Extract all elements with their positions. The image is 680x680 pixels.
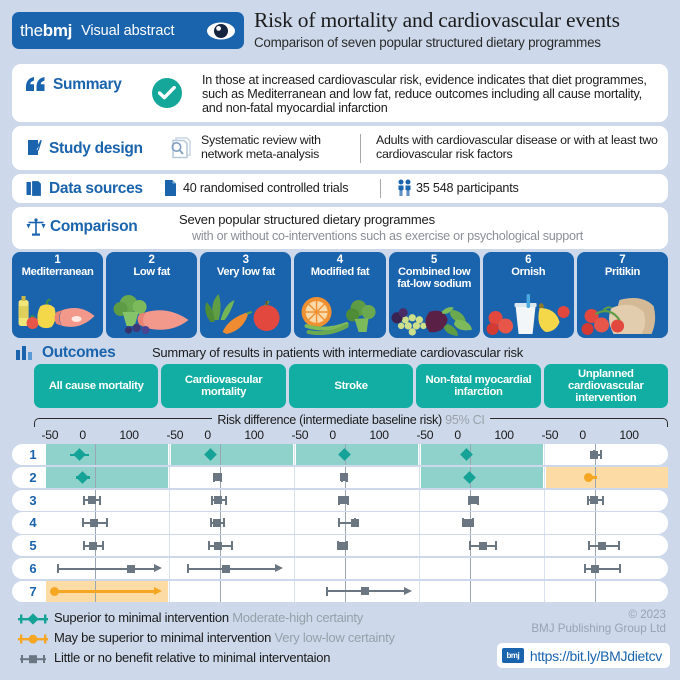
- plot-cell[interactable]: [171, 467, 293, 488]
- eye-icon: [206, 20, 236, 42]
- ci-cap-upper: [472, 518, 474, 527]
- diet-card-pritikin[interactable]: 7 Pritikin: [577, 252, 668, 338]
- plot-cell[interactable]: [421, 512, 543, 533]
- plot-cell[interactable]: [296, 444, 418, 465]
- tick-group-panel-5: -500100: [534, 428, 656, 443]
- panel-separator: [419, 558, 420, 579]
- panel-separator: [294, 535, 295, 556]
- legend-text-superior: Superior to minimal intervention Moderat…: [54, 610, 363, 625]
- legend-row-superior: Superior to minimal intervention Moderat…: [16, 608, 436, 628]
- tick-label: 0: [579, 428, 585, 442]
- point-estimate-square: [351, 519, 359, 527]
- ci-cap-upper: [495, 541, 497, 550]
- panel-separator: [169, 444, 170, 465]
- diet-number: 4: [294, 254, 385, 266]
- document-icon: [164, 179, 177, 202]
- legend-text-may-be-superior: May be superior to minimal intervention …: [54, 630, 395, 645]
- copyright-publisher: BMJ Publishing Group Ltd: [531, 622, 666, 636]
- zero-reference-line: [95, 444, 96, 465]
- divider: [380, 179, 381, 198]
- row-cells: [46, 444, 668, 465]
- study-design-panel: Study design Systematic review with netw…: [12, 126, 668, 170]
- legend: Superior to minimal intervention Moderat…: [16, 608, 436, 668]
- outcome-header-cardiovascular-mortality[interactable]: Cardiovascular mortality: [161, 364, 285, 408]
- panel-separator: [169, 467, 170, 488]
- olive-oil-pepper-tomato-salmon-icon: [12, 292, 103, 336]
- bread-tomatoes-icon: [577, 292, 668, 336]
- row-number-2[interactable]: 2: [24, 467, 42, 488]
- legend-label: Superior to minimal intervention: [54, 610, 229, 625]
- point-estimate-square: [598, 542, 606, 550]
- row-number-5[interactable]: 5: [24, 535, 42, 556]
- plot-row: 7: [12, 581, 668, 602]
- ci-cap-lower: [587, 496, 589, 505]
- diet-card-ornish[interactable]: 6 Ornish: [483, 252, 574, 338]
- tick-label: 0: [79, 428, 85, 442]
- bmj-brand-box: thebmj Visual abstract: [12, 12, 244, 49]
- tick-label: 100: [369, 428, 388, 442]
- tick-label: 100: [494, 428, 513, 442]
- ci-cap-upper: [102, 541, 104, 550]
- plot-cell[interactable]: [171, 512, 293, 533]
- outcome-header-unplanned-cardiovascular-intervention[interactable]: Unplanned cardiovascular intervention: [544, 364, 668, 408]
- tick-group-panel-3: -500100: [284, 428, 406, 443]
- point-estimate-square: [214, 496, 222, 504]
- diet-card-very-low-fat[interactable]: 3 Very low fat: [200, 252, 291, 338]
- diet-number: 2: [106, 254, 197, 266]
- tick-group-panel-1: -500100: [34, 428, 156, 443]
- diet-card-low-fat[interactable]: 2 Low fat: [106, 252, 197, 338]
- point-estimate-square: [464, 519, 472, 527]
- forest-plot: 1234567: [12, 444, 668, 604]
- diet-name: Ornish: [485, 266, 572, 278]
- outcome-column-headers: All cause mortality Cardiovascular morta…: [34, 364, 668, 408]
- panel-separator: [294, 581, 295, 602]
- page-title: Risk of mortality and cardiovascular eve…: [254, 8, 620, 33]
- point-estimate-square: [339, 496, 347, 504]
- diet-cards-row: 1 Mediterranean 2 Low fat: [12, 252, 668, 338]
- diet-name: Pritikin: [579, 266, 666, 278]
- panel-separator: [544, 512, 545, 533]
- plot-cell[interactable]: [296, 558, 418, 579]
- point-estimate-square: [90, 519, 98, 527]
- outcomes-label: Outcomes: [42, 344, 115, 362]
- short-url-box[interactable]: bmj https://bit.ly/BMJdietcv: [497, 643, 670, 668]
- plot-cell[interactable]: [171, 535, 293, 556]
- plot-row: 1: [12, 444, 668, 465]
- ci-cap-upper: [618, 541, 620, 550]
- panel-separator: [419, 490, 420, 511]
- highlight-band-teal: [171, 444, 293, 465]
- ci-cap-upper: [99, 496, 101, 505]
- ci-cap-lower: [57, 564, 59, 573]
- point-estimate-square: [590, 451, 598, 459]
- tick-label: -50: [541, 428, 558, 442]
- point-estimate-square: [590, 496, 598, 504]
- panel-separator: [544, 581, 545, 602]
- plot-cell[interactable]: [46, 444, 168, 465]
- plot-cell[interactable]: [421, 535, 543, 556]
- plot-cell[interactable]: [546, 490, 668, 511]
- grey-square-key: [16, 652, 50, 664]
- tick-label: -50: [291, 428, 308, 442]
- bar-chart-icon: [16, 346, 36, 365]
- ci-open-arrow: [154, 587, 162, 595]
- plot-cell[interactable]: [46, 512, 168, 533]
- teal-diamond-key: [16, 612, 50, 624]
- row-number-4[interactable]: 4: [24, 512, 42, 533]
- panel-separator: [169, 558, 170, 579]
- ci-cap-upper: [231, 541, 233, 550]
- study-design-population: Adults with cardiovascular disease or wi…: [376, 133, 666, 161]
- ci-cap-upper: [223, 518, 225, 527]
- plot-cell[interactable]: [421, 581, 543, 602]
- tick-label: 100: [119, 428, 138, 442]
- plot-row: 4: [12, 512, 668, 533]
- page-subtitle: Comparison of seven popular structured d…: [254, 35, 601, 50]
- tick-label: -50: [416, 428, 433, 442]
- plot-cell[interactable]: [421, 490, 543, 511]
- zero-reference-line: [595, 581, 596, 602]
- check-circle-icon: [152, 78, 182, 108]
- visual-abstract-page: thebmj Visual abstract Risk of mortality…: [0, 0, 680, 680]
- point-estimate-square: [88, 496, 96, 504]
- plot-cell[interactable]: [171, 581, 293, 602]
- panel-separator: [419, 467, 420, 488]
- comparison-label: Comparison: [50, 218, 137, 236]
- axis-ci-text: 95% CI: [445, 413, 485, 427]
- study-design-label: Study design: [49, 140, 143, 158]
- ci-cap-lower: [82, 518, 84, 527]
- ci-open-arrow: [275, 564, 283, 572]
- panel-separator: [419, 444, 420, 465]
- study-design-method: Systematic review with network meta-anal…: [201, 133, 341, 161]
- plot-cell[interactable]: [46, 467, 168, 488]
- legend-row-little-or-no-benefit: Little or no benefit relative to minimal…: [16, 648, 436, 668]
- outcome-header-stroke[interactable]: Stroke: [289, 364, 413, 408]
- plot-cell[interactable]: [546, 444, 668, 465]
- panel-separator: [544, 490, 545, 511]
- ci-cap-upper: [600, 450, 602, 459]
- ci-open-arrow: [154, 564, 162, 572]
- panel-separator: [169, 581, 170, 602]
- panel-separator: [544, 558, 545, 579]
- data-sources-panel: Data sources 40 randomised controlled tr…: [12, 174, 668, 203]
- plot-cell[interactable]: [546, 535, 668, 556]
- point-estimate-square: [222, 565, 230, 573]
- ci-cap-lower: [83, 496, 85, 505]
- outcome-header-non-fatal-myocardial-infarction[interactable]: Non-fatal myocardial infarction: [416, 364, 540, 408]
- point-estimate-square: [338, 542, 346, 550]
- bmj-mark-icon: bmj: [502, 648, 524, 663]
- summary-text: In those at increased cardiovascular ris…: [202, 73, 657, 116]
- ci-cap-upper: [225, 496, 227, 505]
- tick-label: 0: [204, 428, 210, 442]
- tick-label: 0: [454, 428, 460, 442]
- ci-cap-upper: [106, 518, 108, 527]
- point-estimate-square: [361, 587, 369, 595]
- plot-cell[interactable]: [296, 467, 418, 488]
- outcomes-subtitle: Summary of results in patients with inte…: [152, 345, 523, 360]
- plot-cell[interactable]: [546, 558, 668, 579]
- ci-cap-upper: [602, 496, 604, 505]
- highlight-band-teal: [421, 444, 543, 465]
- plot-cell[interactable]: [296, 490, 418, 511]
- plot-cell[interactable]: [421, 444, 543, 465]
- plot-cell[interactable]: [296, 581, 418, 602]
- data-sources-label: Data sources: [49, 180, 143, 198]
- zero-reference-line: [470, 558, 471, 579]
- plot-cell[interactable]: [46, 558, 168, 579]
- bmj-logo-the: the: [20, 21, 43, 40]
- row-number-6[interactable]: 6: [24, 558, 42, 579]
- risk-difference-axis-title-band: Risk difference (intermediate baseline r…: [34, 413, 668, 429]
- diet-card-modified-fat[interactable]: 4 Modified fat: [294, 252, 385, 338]
- plot-cell[interactable]: [296, 512, 418, 533]
- plot-row: 5: [12, 535, 668, 556]
- confidence-interval-line: [187, 568, 276, 570]
- confidence-interval-line: [584, 568, 621, 570]
- highlight-band-amber: [546, 467, 668, 488]
- tick-group-panel-2: -500100: [159, 428, 281, 443]
- highlight-band-teal: [46, 467, 168, 488]
- plot-cell[interactable]: [171, 558, 293, 579]
- panel-separator: [544, 467, 545, 488]
- tick-label: 100: [244, 428, 263, 442]
- legend-text-little-or-no-benefit: Little or no benefit relative to minimal…: [54, 650, 330, 665]
- header: thebmj Visual abstract Risk of mortality…: [0, 0, 680, 58]
- outcome-header-all-cause-mortality[interactable]: All cause mortality: [34, 364, 158, 408]
- diet-name: Very low fat: [202, 266, 289, 278]
- point-estimate-square: [213, 519, 221, 527]
- diet-number: 6: [483, 254, 574, 266]
- plot-cell[interactable]: [546, 467, 668, 488]
- ci-cap-upper: [619, 564, 621, 573]
- bmj-logo-bmj: bmj: [43, 21, 72, 40]
- plot-cell[interactable]: [546, 581, 668, 602]
- plot-row: 3: [12, 490, 668, 511]
- panel-separator: [169, 512, 170, 533]
- documents-icon: [26, 180, 43, 203]
- legend-certainty: Very low-low certainty: [275, 630, 395, 645]
- diet-name: Combined low fat-low sodium: [391, 266, 478, 290]
- broccoli-salmon-berries-icon: [106, 292, 197, 336]
- diet-card-combined-low-fat-low-sodium[interactable]: 5 Combined low fat-low sodium: [389, 252, 480, 338]
- row-number-7[interactable]: 7: [24, 581, 42, 602]
- confidence-interval-line: [57, 568, 155, 570]
- ci-cap-lower: [584, 564, 586, 573]
- ci-cap-lower: [208, 541, 210, 550]
- comparison-line1: Seven popular structured dietary program…: [179, 212, 435, 227]
- ci-cap-lower: [326, 587, 328, 596]
- tick-group-panel-4: -500100: [409, 428, 531, 443]
- diet-name: Mediterranean: [14, 266, 101, 278]
- ci-cap-upper: [347, 496, 349, 505]
- tick-label: -50: [41, 428, 58, 442]
- yogurt-banana-tomatoes-icon: [483, 292, 574, 336]
- diet-name: Modified fat: [296, 266, 383, 278]
- comparison-line2: with or without co-interventions such as…: [192, 229, 583, 243]
- greens-carrot-apple-icon: [200, 292, 291, 336]
- plot-cell[interactable]: [46, 581, 168, 602]
- plot-row: 2: [12, 467, 668, 488]
- ci-cap-lower: [588, 541, 590, 550]
- row-cells: [46, 581, 668, 602]
- plot-cell[interactable]: [171, 490, 293, 511]
- panel-separator: [294, 512, 295, 533]
- tick-label: 0: [329, 428, 335, 442]
- summary-panel: Summary In those at increased cardiovasc…: [12, 64, 668, 122]
- highlight-band-teal: [46, 444, 168, 465]
- ci-open-arrow: [404, 587, 412, 595]
- diet-number: 1: [12, 254, 103, 266]
- panel-separator: [169, 535, 170, 556]
- ci-cap-lower: [211, 496, 213, 505]
- zero-reference-line: [220, 444, 221, 465]
- zero-reference-line: [595, 512, 596, 533]
- amber-dot-key: [16, 632, 50, 644]
- panel-separator: [294, 444, 295, 465]
- plot-cell[interactable]: [171, 444, 293, 465]
- highlight-band-teal: [421, 467, 543, 488]
- tick-label: 100: [619, 428, 638, 442]
- panel-separator: [419, 581, 420, 602]
- row-cells: [46, 467, 668, 488]
- legend-certainty: Moderate-high certainty: [232, 610, 363, 625]
- plot-cell[interactable]: [296, 535, 418, 556]
- balance-scales-icon: [26, 217, 46, 242]
- plot-cell[interactable]: [421, 558, 543, 579]
- summary-label: Summary: [53, 76, 122, 94]
- point-estimate-square: [214, 542, 222, 550]
- panel-separator: [419, 535, 420, 556]
- ci-cap-lower: [210, 518, 212, 527]
- tick-label: -50: [166, 428, 183, 442]
- ci-cap-lower: [469, 541, 471, 550]
- point-estimate-dot: [584, 473, 593, 482]
- axis-tick-labels: -500100-500100-500100-500100-500100: [34, 428, 668, 443]
- bmj-logo-text: thebmj: [20, 21, 72, 41]
- legend-label: Little or no benefit relative to minimal…: [54, 650, 330, 665]
- pencil-document-icon: [27, 139, 42, 161]
- row-cells: [46, 535, 668, 556]
- diet-number: 7: [577, 254, 668, 266]
- risk-difference-title: Risk difference (intermediate baseline r…: [34, 413, 668, 427]
- grapes-beetroot-kale-icon: [389, 292, 480, 336]
- axis-title-text: Risk difference (intermediate baseline r…: [217, 413, 442, 427]
- ci-cap-upper: [346, 541, 348, 550]
- diet-number: 3: [200, 254, 291, 266]
- ci-cap-lower: [83, 541, 85, 550]
- row-number-1[interactable]: 1: [24, 444, 42, 465]
- panel-separator: [294, 467, 295, 488]
- zero-reference-line: [220, 581, 221, 602]
- magnifier-documents-icon: [167, 137, 192, 164]
- row-number-3[interactable]: 3: [24, 490, 42, 511]
- legend-label: May be superior to minimal intervention: [54, 630, 271, 645]
- copyright-year: © 2023: [531, 608, 666, 622]
- point-estimate-square: [591, 565, 599, 573]
- zero-reference-line: [470, 581, 471, 602]
- panel-separator: [419, 512, 420, 533]
- ci-cap-lower: [187, 564, 189, 573]
- highlight-band-teal: [296, 444, 418, 465]
- zero-reference-line: [345, 558, 346, 579]
- point-estimate-square: [469, 496, 477, 504]
- panel-separator: [169, 490, 170, 511]
- divider: [360, 134, 361, 163]
- ci-cap-upper: [477, 496, 479, 505]
- ci-cap-lower: [338, 518, 340, 527]
- zero-reference-line: [95, 467, 96, 488]
- diet-card-mediterranean[interactable]: 1 Mediterranean: [12, 252, 103, 338]
- comparison-panel: Comparison Seven popular structured diet…: [12, 207, 668, 249]
- legend-row-may-be-superior: May be superior to minimal intervention …: [16, 628, 436, 648]
- row-cells: [46, 490, 668, 511]
- panel-separator: [544, 444, 545, 465]
- plot-cell[interactable]: [46, 490, 168, 511]
- visual-abstract-label: Visual abstract: [81, 23, 174, 39]
- plot-row: 6: [12, 558, 668, 579]
- short-url-text: https://bit.ly/BMJdietcv: [530, 648, 662, 664]
- diet-name: Low fat: [108, 266, 195, 278]
- participants-count-text: 35 548 participants: [416, 181, 519, 195]
- panel-separator: [544, 535, 545, 556]
- trials-count-text: 40 randomised controlled trials: [183, 181, 348, 195]
- panel-separator: [294, 490, 295, 511]
- people-icon: [397, 179, 412, 202]
- plot-cell[interactable]: [421, 467, 543, 488]
- orange-greenbeans-broccoli-icon: [294, 292, 385, 336]
- plot-cell[interactable]: [46, 535, 168, 556]
- point-estimate-square: [89, 542, 97, 550]
- point-estimate-square: [340, 473, 348, 481]
- plot-cell[interactable]: [546, 512, 668, 533]
- copyright-block: © 2023 BMJ Publishing Group Ltd: [531, 608, 666, 635]
- confidence-interval-line: [55, 590, 155, 593]
- row-cells: [46, 558, 668, 579]
- diet-number: 5: [389, 254, 480, 266]
- point-estimate-square: [127, 565, 135, 573]
- row-cells: [46, 512, 668, 533]
- point-estimate-square: [213, 473, 221, 481]
- quote-icon: [26, 77, 46, 98]
- panel-separator: [294, 558, 295, 579]
- point-estimate-square: [479, 542, 487, 550]
